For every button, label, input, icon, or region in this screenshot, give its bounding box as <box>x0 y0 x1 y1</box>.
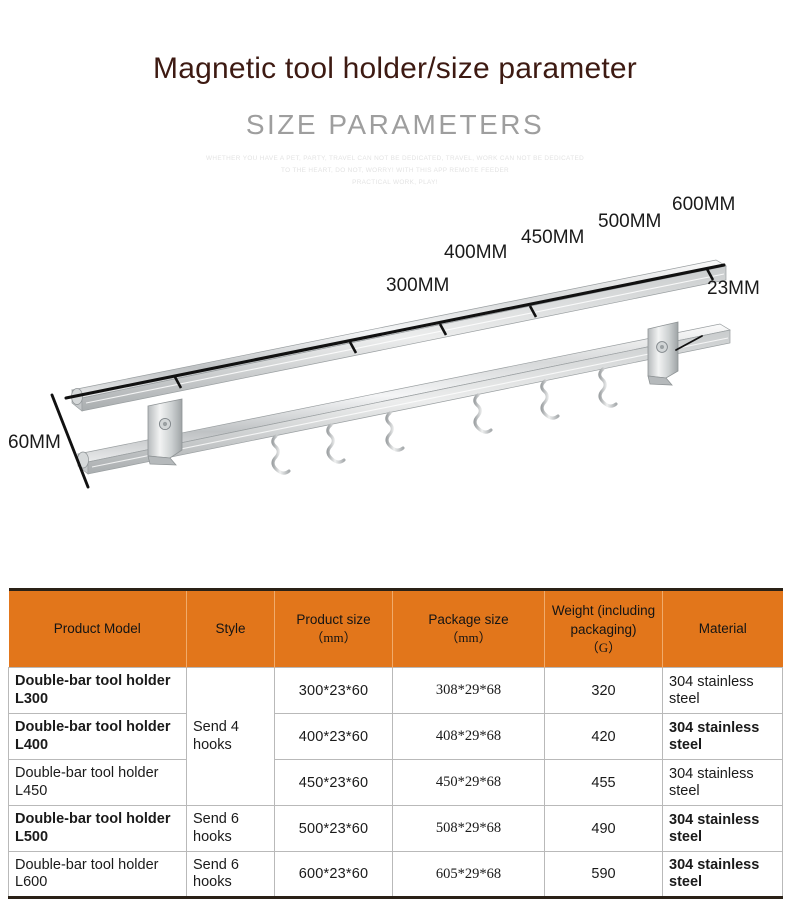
cell-material: 304 stainless steel <box>663 806 783 852</box>
table-row: Double-bar tool holder L300Send 4 hooks3… <box>9 668 783 714</box>
dimension-label-300mm: 300MM <box>386 275 449 297</box>
hook <box>542 381 558 418</box>
hook <box>600 369 616 406</box>
column-header-package-size: Package size （mm） <box>393 590 545 668</box>
fineprint-line-3: PRACTICAL WORK, PLAY! <box>0 177 790 189</box>
dimension-label-600mm: 600MM <box>672 194 735 216</box>
cell-product-model: Double-bar tool holder L600 <box>9 852 187 898</box>
cell-material: 304 stainless steel <box>663 760 783 806</box>
page-subtitle: SIZE PARAMETERS <box>0 109 790 141</box>
mounting-bracket-right <box>648 322 678 385</box>
cell-style: Send 4 hooks <box>187 668 275 806</box>
cell-package-size: 508*29*68 <box>393 806 545 852</box>
cell-weight: 455 <box>545 760 663 806</box>
column-header-material: Material <box>663 590 783 668</box>
cell-material: 304 stainless steel <box>663 668 783 714</box>
fineprint-block: WHETHER YOU HAVE A PET, PARTY, TRAVEL CA… <box>0 153 790 190</box>
product-illustration-svg <box>0 202 790 557</box>
page-header: Magnetic tool holder/size parameter SIZE… <box>0 0 790 190</box>
cell-weight: 420 <box>545 714 663 760</box>
cell-product-size: 450*23*60 <box>275 760 393 806</box>
cell-weight: 490 <box>545 806 663 852</box>
table-row: Double-bar tool holder L400400*23*60408*… <box>9 714 783 760</box>
cell-package-size: 408*29*68 <box>393 714 545 760</box>
table-row: Double-bar tool holder L600Send 6 hooks6… <box>9 852 783 898</box>
column-header-weight-text: Weight (including packaging) <box>552 603 655 637</box>
cell-product-model: Double-bar tool holder L450 <box>9 760 187 806</box>
hook <box>475 395 491 432</box>
table-header-row: Product Model Style Product size （mm） Pa… <box>9 590 783 668</box>
cell-style: Send 6 hooks <box>187 852 275 898</box>
cell-package-size: 450*29*68 <box>393 760 545 806</box>
column-header-product-model: Product Model <box>9 590 187 668</box>
cell-weight: 320 <box>545 668 663 714</box>
page-title: Magnetic tool holder/size parameter <box>0 52 790 87</box>
column-header-weight-unit: （G） <box>548 639 659 657</box>
fineprint-line-2: TO THE HEART, DO NOT, WORRY! WITH THIS A… <box>0 165 790 177</box>
cell-material: 304 stainless steel <box>663 714 783 760</box>
column-header-product-size-text: Product size <box>296 612 370 627</box>
column-header-weight: Weight (including packaging) （G） <box>545 590 663 668</box>
cell-product-model: Double-bar tool holder L300 <box>9 668 187 714</box>
cell-product-size: 500*23*60 <box>275 806 393 852</box>
column-header-package-size-text: Package size <box>428 612 508 627</box>
column-header-product-size-unit: （mm） <box>278 629 389 647</box>
column-header-product-size: Product size （mm） <box>275 590 393 668</box>
cell-product-model: Double-bar tool holder L400 <box>9 714 187 760</box>
table-row: Double-bar tool holder L500Send 6 hooks5… <box>9 806 783 852</box>
table-body: Double-bar tool holder L300Send 4 hooks3… <box>9 668 783 898</box>
dimension-label-60mm: 60MM <box>8 432 61 454</box>
column-header-style: Style <box>187 590 275 668</box>
spec-table: Product Model Style Product size （mm） Pa… <box>8 588 783 899</box>
table-row: Double-bar tool holder L450450*23*60450*… <box>9 760 783 806</box>
cell-weight: 590 <box>545 852 663 898</box>
cell-product-model: Double-bar tool holder L500 <box>9 806 187 852</box>
dimension-label-400mm: 400MM <box>444 242 507 264</box>
fineprint-line-1: WHETHER YOU HAVE A PET, PARTY, TRAVEL CA… <box>0 153 790 165</box>
spec-table-container: Product Model Style Product size （mm） Pa… <box>8 588 782 899</box>
dimension-label-23mm: 23MM <box>707 278 760 300</box>
dimension-label-450mm: 450MM <box>521 227 584 249</box>
cell-product-size: 400*23*60 <box>275 714 393 760</box>
cell-material: 304 stainless steel <box>663 852 783 898</box>
cell-package-size: 308*29*68 <box>393 668 545 714</box>
hook <box>273 436 289 473</box>
cell-package-size: 605*29*68 <box>393 852 545 898</box>
hook <box>387 413 403 450</box>
dimension-label-500mm: 500MM <box>598 211 661 233</box>
cell-style: Send 6 hooks <box>187 806 275 852</box>
cell-product-size: 300*23*60 <box>275 668 393 714</box>
column-header-package-size-unit: （mm） <box>396 629 541 647</box>
cell-product-size: 600*23*60 <box>275 852 393 898</box>
hook <box>328 425 344 462</box>
product-diagram: 300MM 400MM 450MM 500MM 600MM 23MM 60MM <box>0 202 790 557</box>
